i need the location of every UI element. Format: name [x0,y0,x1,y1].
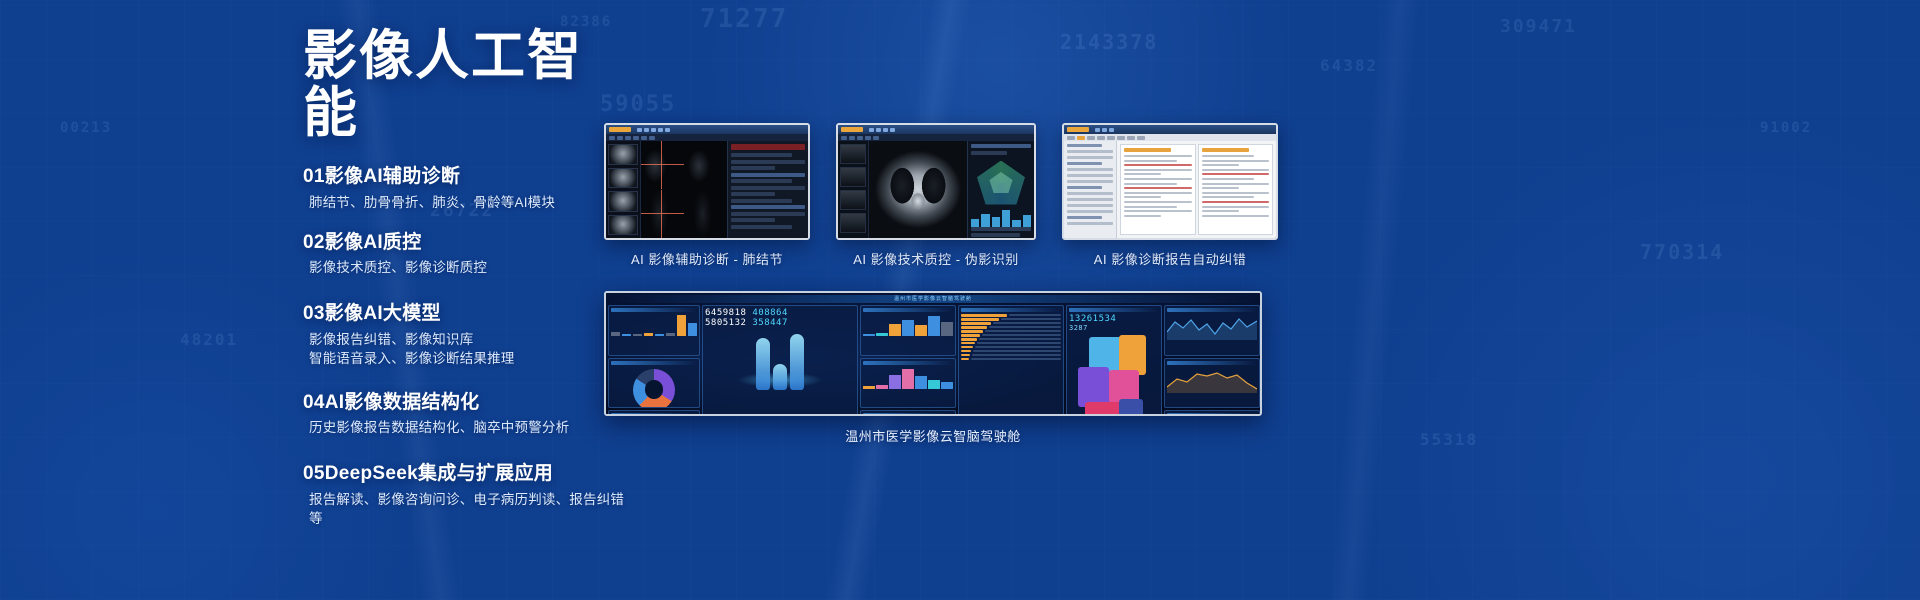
document-text-line [1202,164,1239,166]
panel-overview-hologram: 6459818 408864 5805132 358447 [702,305,858,416]
document-text-line [1124,206,1177,208]
map-region [1078,367,1109,407]
ct-image-chest-axial [869,141,967,238]
series-thumbnail [840,213,866,233]
line-chart-trend-1 [1167,314,1257,356]
dashboard-canvas: 温州市医学影像云智脑驾驶舱 [606,293,1260,414]
feature-desc-04-line1: 历史影像报告数据结构化、脑卒中预警分析 [309,418,633,438]
tool-icon-7 [1137,136,1145,140]
report-list-item [1067,168,1113,171]
screenshot-frame-1 [604,123,810,240]
kpi-total-exams-value: 6459818 [705,308,746,318]
feature-item-05: 05DeepSeek集成与扩展应用 报告解读、影像咨询问诊、电子病历判读、报告纠… [303,462,633,529]
ranking-row [961,330,1061,333]
feature-list-column: 影像人工智能 01影像AI辅助诊断 肺结节、肋骨骨折、肺炎、骨龄等AI模块 02… [303,28,633,535]
screenshot-frame-2 [836,123,1036,240]
panel-modality-donut [608,358,700,409]
kpi-year-diagnoses-value: 358447 [752,318,788,328]
qc-bar-chart [971,209,1031,227]
findings-row [731,186,805,190]
map-region [1085,402,1121,416]
panel-exam-volume-bar [608,305,700,356]
feature-title-02: 02影像AI质控 [303,231,633,256]
findings-row [731,192,775,196]
viewer-body-2 [838,141,1034,238]
report-document-original [1120,144,1196,235]
kpi-ai-total: 13261534 [1069,314,1159,324]
tool-icon-6 [1127,136,1135,140]
ranking-row [961,326,1061,329]
qc-analysis-panel [967,141,1034,238]
panel-header [961,308,1061,312]
findings-panel-1 [727,141,808,238]
feature-desc-01: 肺结节、肋骨骨折、肺炎、骨龄等AI模块 [303,193,633,213]
donut-chart-modality [633,369,675,409]
panel-monthly-trend-bar [860,305,956,356]
tool-icon-2 [617,136,623,140]
map-region [1119,335,1146,375]
feature-title-01: 01影像AI辅助诊断 [303,165,633,190]
document-text-line [1124,192,1192,194]
series-thumbnail-list [606,141,641,238]
screenshot-card-report-autocorrect: AI 影像诊断报告自动纠错 [1062,123,1278,268]
ranking-row [961,338,1061,341]
dashboard-card: 温州市医学影像云智脑驾驶舱 [604,291,1262,416]
kpi-year-exams: 5805132 358447 [705,318,855,328]
ranking-row [961,346,1061,349]
feature-desc-02: 影像技术质控、影像诊断质控 [303,258,633,278]
ranking-row [961,334,1061,337]
kpi-total-diagnoses-value: 408864 [752,308,788,318]
line-chart-trend-2 [1167,367,1257,409]
menu-icon-2 [644,128,649,132]
ct-image-coronal [641,190,684,238]
feature-desc-02-line1: 影像技术质控、影像诊断质控 [309,258,633,278]
document-text-line [1124,173,1161,175]
page-title: 影像人工智能 [303,28,633,141]
feature-item-04: 04AI影像数据结构化 历史影像报告数据结构化、脑卒中预警分析 [303,391,633,438]
findings-row [731,179,792,183]
document-text-line [1124,196,1161,198]
tool-icon-2 [849,136,855,140]
document-text-line-error [1202,201,1270,203]
banner-root: 71277 82386 59055 2143378 64382 309471 2… [0,0,1920,600]
tool-icon-3 [857,136,863,140]
document-text-line [1202,160,1270,162]
bar-chart-monthly-trend [863,314,953,336]
feature-desc-03-line1: 影像报告纠错、影像知识库 [309,330,633,350]
tool-icon-6 [649,136,655,140]
menu-icon-3 [883,128,888,132]
dashboard-panel-grid: 6459818 408864 5805132 358447 [608,305,1258,416]
ranking-row [961,342,1061,345]
app-titlebar-2 [838,125,1034,134]
report-list-item [1067,210,1113,213]
tool-icon-1 [609,136,615,140]
panel-header [863,361,953,365]
panel-header [611,361,697,365]
tool-icon-1 [841,136,847,140]
ranking-list [961,314,1061,360]
series-thumbnail [608,215,638,236]
tool-icon-3 [1097,136,1105,140]
menu-icon-4 [890,128,895,132]
kpi-ai-today-value: 3287 [1069,324,1088,332]
screenshot-caption-2: AI 影像技术质控 - 伪影识别 [836,249,1036,268]
document-text-line [1124,183,1177,185]
series-thumbnail [840,190,866,210]
menu-icon-3 [651,128,656,132]
dashboard-column-ranking [958,305,1064,416]
series-thumbnail [608,144,638,165]
kpi-total-exams: 6459818 408864 [705,308,855,318]
line-chart-svg [1167,367,1257,393]
document-text-line [1124,178,1192,180]
panel-distribution-pie [1164,410,1260,416]
dashboard-column-map: 13261534 3287 [1066,305,1162,416]
dashboard-column-mid [860,305,956,416]
findings-header-bar [731,144,805,150]
dashboard-frame: 温州市医学影像云智脑驾驶舱 [604,291,1262,416]
feature-title-04: 04AI影像数据结构化 [303,391,633,416]
qc-row [971,227,1031,231]
tool-icon-5 [641,136,647,140]
ranking-row [961,354,1061,357]
ranking-row [961,314,1061,317]
app-titlebar-1 [606,125,808,134]
panel-regional-map: 13261534 3287 [1066,305,1162,416]
qc-row [971,144,1031,148]
document-text-line [1202,178,1255,180]
findings-row [731,218,775,222]
document-text-line [1202,206,1270,208]
screenshot-card-ct-lung-nodule: AI 影像辅助诊断 - 肺结节 [604,123,810,268]
report-sidebar-list [1064,141,1117,238]
panel-department-bar [860,358,956,409]
findings-row [731,225,792,229]
series-thumbnail [840,167,866,187]
dashboard-column-right [1164,305,1260,416]
panel-ai-usage-bar [860,410,956,416]
app-toolbar-2 [838,134,1034,141]
findings-row [731,173,805,177]
document-text-line [1202,196,1255,198]
tool-icon-3 [625,136,631,140]
feature-desc-03: 影像报告纠错、影像知识库 智能语音录入、影像诊断结果推理 [303,330,633,369]
feature-desc-03-line2: 智能语音录入、影像诊断结果推理 [309,349,633,369]
document-text-line-error [1124,187,1192,189]
document-text-line [1202,187,1239,189]
feature-desc-05-line1: 报告解读、影像咨询问诊、电子病历判读、报告纠错等 [309,490,633,529]
report-list-item [1067,144,1102,147]
panel-trend-line-1 [1164,305,1260,356]
screenshot-frame-3 [1062,123,1278,240]
tool-icon-5 [1117,136,1125,140]
kpi-ai-today: 3287 [1069,324,1159,332]
ranking-row [961,350,1061,353]
findings-row [731,205,805,209]
series-thumbnail-list-2 [838,141,869,238]
qc-row [971,233,1020,237]
findings-row [731,212,805,216]
map-wenzhou-regions [1069,332,1159,416]
screenshot-caption-1: AI 影像辅助诊断 - 肺结节 [604,249,810,268]
document-text-line [1202,155,1255,157]
panel-header [863,413,953,416]
feature-item-01: 01影像AI辅助诊断 肺结节、肋骨骨折、肺炎、骨龄等AI模块 [303,165,633,212]
tool-icon-4 [865,136,871,140]
ct-image-axial-2 [685,141,728,189]
panel-trend-line-2 [1164,358,1260,409]
menu-icon-1 [1095,128,1100,132]
panel-hospital-ranking-bar [608,410,700,416]
document-text-line [1202,215,1270,217]
menu-icon-3 [1109,128,1114,132]
feature-desc-04: 历史影像报告数据结构化、脑卒中预警分析 [303,418,633,438]
tool-icon-4 [1107,136,1115,140]
bar-chart-department [863,367,953,389]
report-list-item [1067,150,1113,153]
document-text-line [1202,192,1270,194]
document-text-line [1124,169,1192,171]
feature-item-03: 03影像AI大模型 影像报告纠错、影像知识库 智能语音录入、影像诊断结果推理 [303,302,633,369]
qc-row [971,151,1007,155]
ranking-row [961,318,1061,321]
panel-header [863,308,953,312]
report-list-item [1067,192,1113,195]
panel-institution-ranking [958,305,1064,416]
report-list-item [1067,156,1113,159]
app-titlebar-3 [1064,125,1276,134]
dashboard-header-title: 温州市医学影像云智脑驾驶舱 [608,295,1258,303]
document-text-line [1124,201,1192,203]
report-toolbar [1064,134,1276,141]
ct-image-axial-1 [641,141,684,189]
document-title-bar [1202,148,1249,152]
report-list-item [1067,162,1102,165]
document-text-line [1202,210,1239,212]
menu-icon-1 [869,128,874,132]
menu-icon-1 [637,128,642,132]
document-text-line [1124,215,1161,217]
report-list-item [1067,180,1113,183]
image-viewport-grid [641,141,727,238]
hologram-figure-group [705,328,855,390]
tool-icon-1 [1067,136,1075,140]
app-logo-icon-2 [841,127,863,132]
series-thumbnail [840,144,866,164]
viewer-body-1 [606,141,808,238]
tool-icon-5 [873,136,879,140]
radar-chart-qc [977,161,1025,205]
report-list-item [1067,222,1113,225]
report-list-item [1067,204,1113,207]
findings-row [731,166,775,170]
dashboard-caption: 温州市医学影像云智脑驾驶舱 [604,426,1262,445]
map-region [1119,399,1142,416]
tool-icon-2 [1087,136,1095,140]
app-logo-icon-1 [609,127,631,132]
app-toolbar-1 [606,134,808,141]
menu-icon-2 [876,128,881,132]
hologram-figure-adult-left [756,338,770,390]
report-list-item [1067,174,1113,177]
feature-title-03: 03影像AI大模型 [303,302,633,327]
screenshot-card-ct-artifact-qc: AI 影像技术质控 - 伪影识别 [836,123,1036,268]
line-chart-svg [1167,314,1257,340]
report-list-item [1067,216,1102,219]
report-body [1064,141,1276,238]
document-title-bar [1124,148,1171,152]
panel-header [1167,308,1257,312]
document-text-line [1124,210,1192,212]
kpi-year-exams-value: 5805132 [705,318,746,328]
report-list-item [1067,198,1113,201]
report-list-item [1067,186,1102,189]
series-thumbnail [608,168,638,189]
document-text-line [1202,169,1270,171]
report-document-compare [1117,141,1276,238]
menu-icon-2 [1102,128,1107,132]
panel-header [611,413,697,416]
app-logo-icon-3 [1067,127,1089,132]
findings-row [731,153,792,157]
feature-title-05: 05DeepSeek集成与扩展应用 [303,462,633,487]
ranking-row [961,322,1061,325]
document-text-line [1124,160,1177,162]
findings-row [731,160,805,164]
menu-icon-4 [658,128,663,132]
hologram-figure-adult-right [790,334,804,390]
tool-icon-4 [633,136,639,140]
series-thumbnail [608,191,638,212]
hologram-figure-child [773,364,787,390]
document-text-line-error [1124,164,1192,166]
tool-icon-highlight [1077,136,1085,140]
ranking-row [961,358,1061,361]
panel-header [611,308,697,312]
dashboard-column-left [608,305,700,416]
ct-image-sagittal [685,190,728,238]
kpi-ai-total-value: 13261534 [1069,314,1116,324]
bar-chart-exam-volume [611,314,697,336]
feature-desc-01-line1: 肺结节、肋骨骨折、肺炎、骨龄等AI模块 [309,193,633,213]
screenshot-caption-3: AI 影像诊断报告自动纠错 [1062,249,1278,268]
feature-desc-05: 报告解读、影像咨询问诊、电子病历判读、报告纠错等 [303,490,633,529]
report-document-corrected [1198,144,1274,235]
findings-row [731,199,792,203]
menu-icon-5 [665,128,670,132]
panel-header [1069,308,1159,312]
feature-item-02: 02影像AI质控 影像技术质控、影像诊断质控 [303,231,633,278]
document-text-line-error [1202,173,1270,175]
document-text-line [1202,183,1270,185]
document-text-line [1124,155,1192,157]
panel-header [1167,361,1257,365]
panel-header [1167,413,1257,416]
